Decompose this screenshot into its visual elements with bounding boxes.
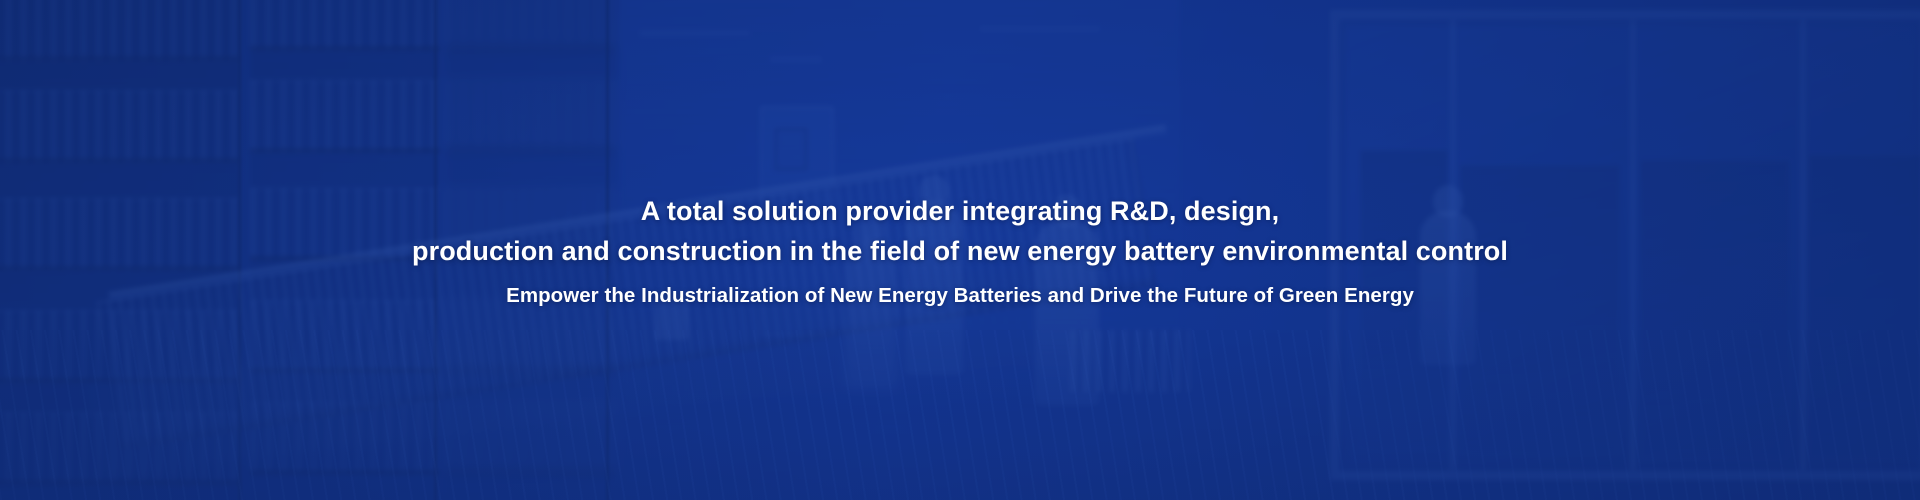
- banner-headline-line1: A total solution provider integrating R&…: [641, 191, 1280, 231]
- banner-subheadline: Empower the Industrialization of New Ene…: [506, 282, 1414, 310]
- hero-banner: A total solution provider integrating R&…: [0, 0, 1920, 500]
- banner-headline-line2: production and construction in the field…: [412, 231, 1508, 271]
- banner-content: A total solution provider integrating R&…: [0, 0, 1920, 500]
